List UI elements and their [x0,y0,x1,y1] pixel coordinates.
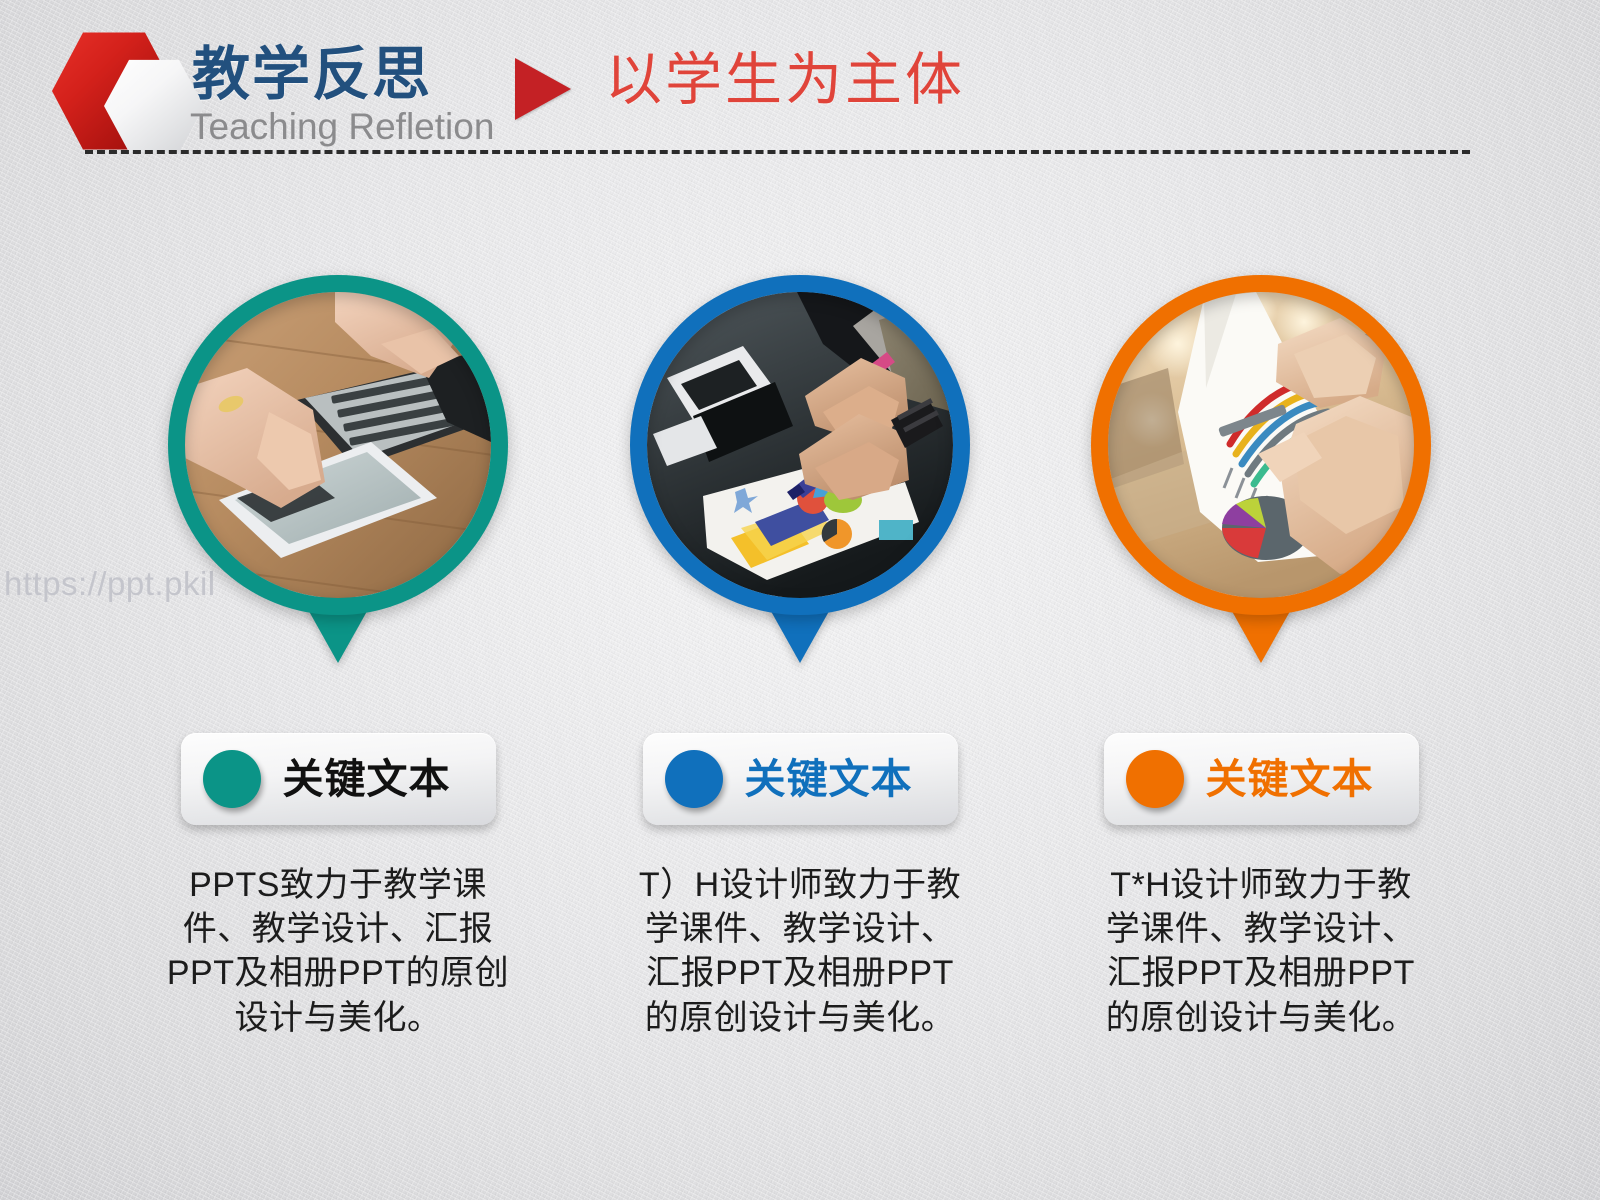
key-text-plate-3[interactable]: 关键文本 [1104,733,1419,825]
bullet-dot-blue [665,750,723,808]
speech-bubble-2 [630,275,970,675]
key-text-plate-2[interactable]: 关键文本 [643,733,958,825]
key-text-label: 关键文本 [283,759,451,800]
content-column-2: 关键文本 T）H设计师致力于教学课件、教学设计、汇报PPT及相册PPT的原创设计… [565,275,1035,1040]
bubble-ring [630,275,970,615]
hexagon-logo-icon [52,30,202,152]
bubble-ring [1091,275,1431,615]
content-column-3: 关键文本 T*H设计师致力于教学课件、教学设计、汇报PPT及相册PPT的原创设计… [1026,275,1496,1040]
header-divider [85,150,1470,154]
section-title: 以学生为主体 [605,52,965,109]
key-text-label: 关键文本 [745,759,913,800]
bubble-ring [168,275,508,615]
column-body-text: T）H设计师致力于教学课件、教学设计、汇报PPT及相册PPT的原创设计与美化。 [632,863,968,1040]
content-column-1: 关键文本 PPTS致力于教学课件、教学设计、汇报PPT及相册PPT的原创设计与美… [103,275,573,1040]
column-body-text: PPTS致力于教学课件、教学设计、汇报PPT及相册PPT的原创设计与美化。 [162,863,514,1040]
key-text-plate-1[interactable]: 关键文本 [181,733,496,825]
key-text-label: 关键文本 [1206,759,1374,800]
slide-header: 教学反思 Teaching Refletion 以学生为主体 [0,0,1600,170]
speech-bubble-3 [1091,275,1431,675]
bullet-dot-teal [203,750,261,808]
play-triangle-icon [515,58,571,120]
slide-canvas: 教学反思 Teaching Refletion 以学生为主体 https://p… [0,0,1600,1200]
column-body-text: T*H设计师致力于教学课件、教学设计、汇报PPT及相册PPT的原创设计与美化。 [1093,863,1429,1040]
bullet-dot-orange [1126,750,1184,808]
page-title: 教学反思 [192,46,432,104]
page-subtitle: Teaching Refletion [190,108,494,145]
speech-bubble-1 [168,275,508,675]
